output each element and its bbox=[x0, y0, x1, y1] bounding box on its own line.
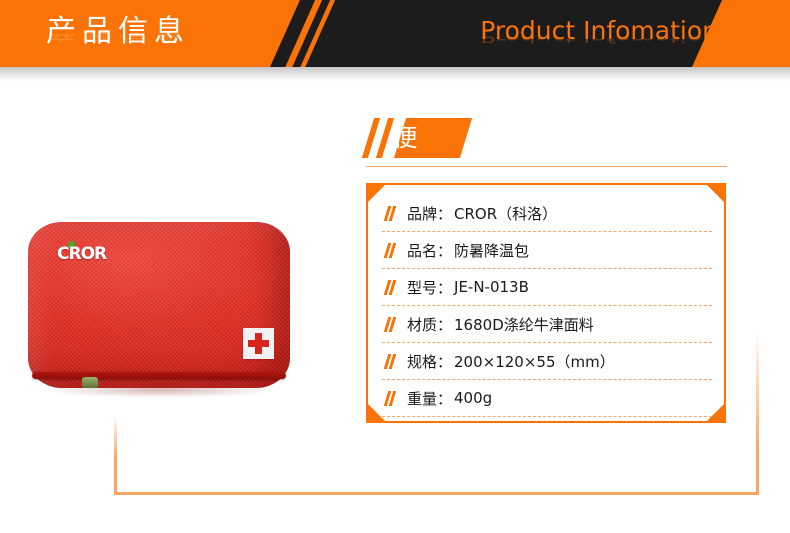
bullet-slash-icon bbox=[384, 280, 400, 295]
spec-row: 重量： 400g bbox=[382, 380, 712, 417]
spec-row: 品名： 防暑降温包 bbox=[382, 232, 712, 269]
brand-logo-text: CROR bbox=[57, 244, 106, 264]
bullet-slash-icon bbox=[384, 317, 400, 332]
title-slash-2 bbox=[376, 118, 394, 158]
spec-value: 200×120×55（mm） bbox=[454, 351, 615, 372]
spec-row: 品牌： CROR（科洛） bbox=[382, 195, 712, 232]
decor-frame-bottom-line bbox=[114, 492, 759, 495]
spec-row: 材质： 1680D涤纶牛津面料 bbox=[382, 306, 712, 343]
spec-value: 防暑降温包 bbox=[454, 240, 529, 261]
bullet-slash-icon bbox=[384, 206, 400, 221]
section-title-ribbon: 便携急救包 bbox=[394, 118, 472, 158]
spec-label: 规格： bbox=[407, 351, 452, 372]
spec-row: 型号： JE-N-013B bbox=[382, 269, 712, 306]
zipper-pull-icon bbox=[82, 377, 98, 388]
spec-value: 400g bbox=[454, 389, 492, 407]
cross-horizontal-bar bbox=[248, 340, 269, 347]
spec-value: JE-N-013B bbox=[454, 278, 529, 296]
header-title-en-reflection: Product Infomation bbox=[480, 35, 718, 46]
red-cross-badge bbox=[243, 328, 274, 359]
spec-label: 品牌： bbox=[407, 203, 452, 224]
bullet-slash-icon bbox=[384, 391, 400, 406]
spec-label: 型号： bbox=[407, 277, 452, 298]
section-title-underline bbox=[366, 166, 727, 167]
header-shadow bbox=[0, 67, 790, 81]
bullet-slash-icon bbox=[384, 354, 400, 369]
spec-value: CROR（科洛） bbox=[454, 203, 557, 224]
spec-value: 1680D涤纶牛津面料 bbox=[454, 314, 594, 335]
first-aid-case-body: CROR bbox=[28, 222, 290, 388]
bullet-slash-icon bbox=[384, 243, 400, 258]
product-image: CROR bbox=[28, 222, 290, 402]
spec-label: 品名： bbox=[407, 240, 452, 261]
spec-label: 重量： bbox=[407, 388, 452, 409]
specification-box: 品牌： CROR（科洛） 品名： 防暑降温包 型号： JE-N-013B 材质：… bbox=[366, 183, 726, 423]
case-zipper-seam bbox=[32, 372, 286, 379]
specification-list: 品牌： CROR（科洛） 品名： 防暑降温包 型号： JE-N-013B 材质：… bbox=[382, 195, 712, 417]
decor-frame-left-line bbox=[114, 415, 117, 493]
header-title-cn-reflection: 产品信息 bbox=[46, 32, 190, 44]
spec-row: 规格： 200×120×55（mm） bbox=[382, 343, 712, 380]
page-header: 产品信息 产品信息 Product Infomation Product Inf… bbox=[0, 0, 790, 67]
spec-label: 材质： bbox=[407, 314, 452, 335]
decor-frame-right-line bbox=[756, 330, 759, 493]
